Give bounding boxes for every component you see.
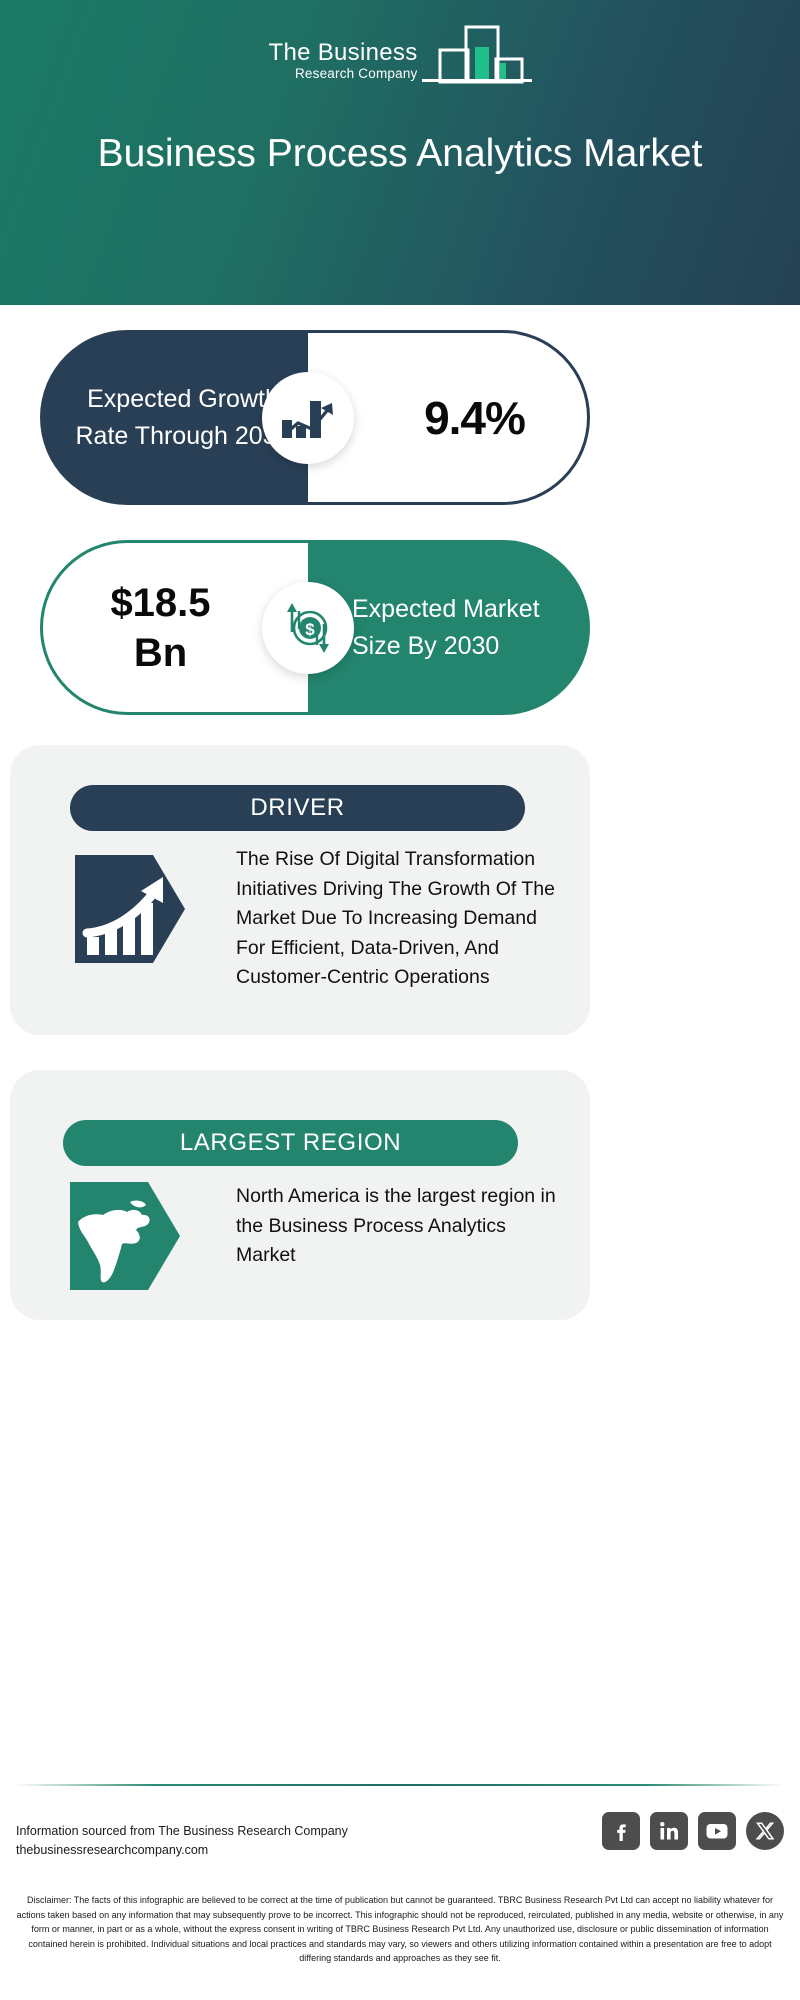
footer-divider [14, 1784, 784, 1786]
x-twitter-icon[interactable] [746, 1812, 784, 1850]
company-logo: The Business Research Company [0, 22, 800, 85]
driver-body-text: The Rise Of Digital Transformation Initi… [236, 845, 566, 993]
stat-card-market-size: $18.5 Bn Expected Market Size By 2030 $ [40, 540, 590, 715]
largest-region-pill: LARGEST REGION [63, 1120, 518, 1166]
north-america-map-icon [70, 1182, 180, 1290]
driver-pill: DRIVER [70, 785, 525, 831]
svg-text:$: $ [305, 620, 315, 639]
youtube-icon[interactable] [698, 1812, 736, 1850]
header-banner: The Business Research Company Business P… [0, 0, 800, 305]
stat-card-growth-rate-value: 9.4% [370, 391, 525, 445]
page-title: Business Process Analytics Market [60, 130, 740, 178]
growth-bar-chart-arrow-icon [262, 372, 354, 464]
stat-card-growth-rate: Expected Growth Rate Through 2030 9.4% [40, 330, 590, 505]
linkedin-icon[interactable] [650, 1812, 688, 1850]
logo-line-1: The Business [268, 39, 417, 66]
footer-source-block: Information sourced from The Business Re… [16, 1822, 348, 1860]
driver-pill-label: DRIVER [250, 794, 344, 822]
disclaimer-text: Disclaimer: The facts of this infographi… [12, 1893, 788, 1966]
largest-region-pill-label: LARGEST REGION [180, 1129, 401, 1157]
bar-chart-logo-mark [422, 22, 532, 84]
social-links [602, 1812, 784, 1850]
dollar-cycle-icon: $ [262, 582, 354, 674]
largest-region-body-text: North America is the largest region in t… [236, 1182, 556, 1271]
stat-card-market-size-value: $18.5 Bn [101, 578, 251, 678]
logo-line-2: Research Company [268, 66, 417, 82]
company-logo-text: The Business Research Company [268, 39, 417, 85]
infographic-page: The Business Research Company Business P… [0, 0, 800, 2000]
facebook-icon[interactable] [602, 1812, 640, 1850]
footer-source-line: Information sourced from The Business Re… [16, 1822, 348, 1841]
growth-chart-arrow-icon [75, 855, 185, 963]
footer-website-link[interactable]: thebusinessresearchcompany.com [16, 1841, 348, 1860]
